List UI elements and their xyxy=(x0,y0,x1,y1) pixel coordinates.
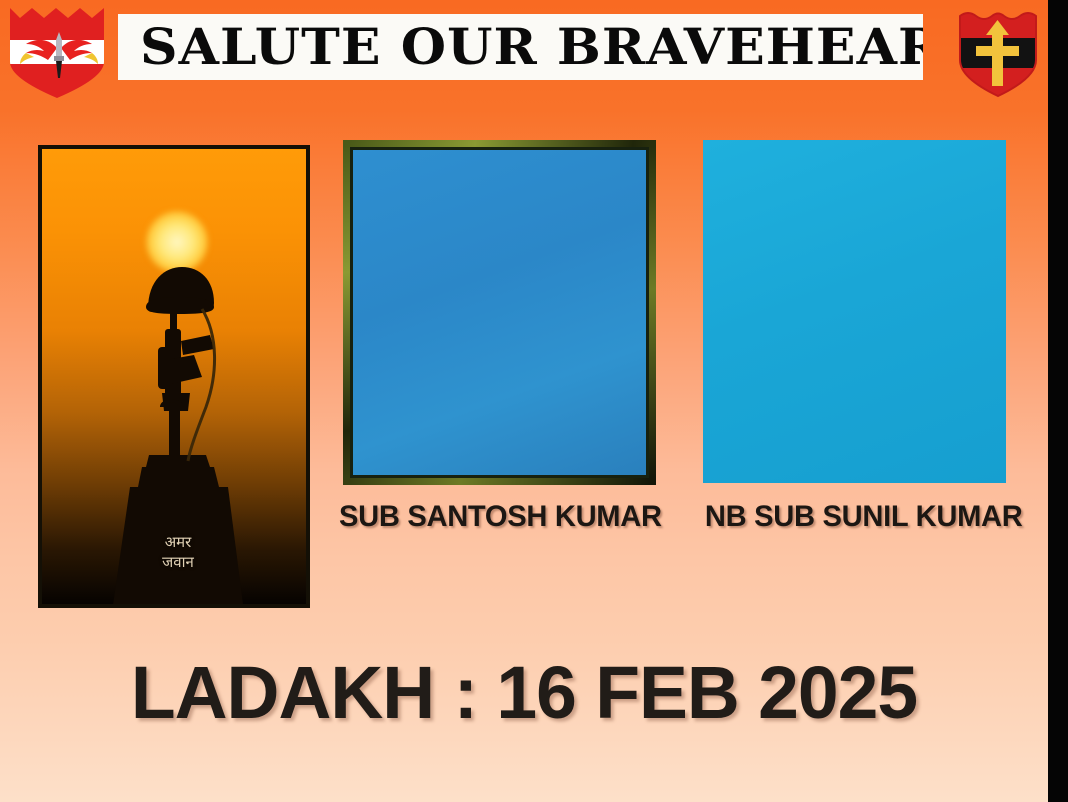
poster-header: WE SALUTE OUR BRAVEHEARTS xyxy=(0,0,1048,112)
portrait-sunil-kumar xyxy=(703,140,1006,483)
photo-backdrop xyxy=(703,140,1006,483)
portrait-santosh-kumar xyxy=(343,140,656,485)
right-edge-bar xyxy=(1048,0,1068,802)
memorial-caption-line-2: जवान xyxy=(42,552,310,572)
memorial-poster: WE SALUTE OUR BRAVEHEARTS xyxy=(0,0,1068,802)
caption-sunil-kumar: NB SUB SUNIL KUMAR xyxy=(705,500,1023,534)
banner-plate: WE SALUTE OUR BRAVEHEARTS xyxy=(118,14,923,80)
winged-dagger-shield-insignia xyxy=(4,4,114,100)
cross-arrow-shield-insignia xyxy=(952,8,1044,100)
name-captions: SUB SANTOSH KUMAR NB SUB SUNIL KUMAR xyxy=(0,500,1048,546)
banner-title: WE SALUTE OUR BRAVEHEARTS xyxy=(118,22,923,72)
location-date-headline: LADAKH : 16 FEB 2025 xyxy=(5,655,1043,731)
caption-santosh-kumar: SUB SANTOSH KUMAR xyxy=(339,500,662,534)
photo-backdrop xyxy=(353,150,646,475)
